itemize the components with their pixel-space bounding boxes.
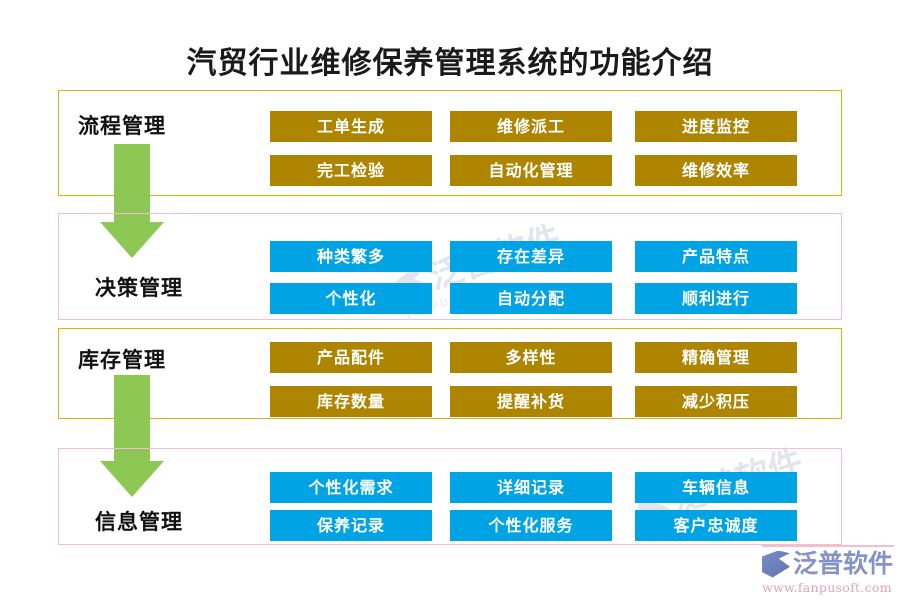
chip-process-r0c2[interactable]: 进度监控	[635, 111, 797, 142]
logo-name: 泛普软件	[793, 550, 893, 578]
section-label-process: 流程管理	[78, 110, 166, 140]
slide-canvas: 汽贸行业维修保养管理系统的功能介绍 泛普软件 FANPUSOFT 泛普软件 FA…	[0, 0, 900, 600]
section-label-information: 信息管理	[95, 506, 183, 536]
chip-inventory-r0c2[interactable]: 精确管理	[635, 342, 797, 373]
chip-process-r0c1[interactable]: 维修派工	[450, 111, 612, 142]
chip-process-r0c0[interactable]: 工单生成	[270, 111, 432, 142]
chip-inventory-r0c0[interactable]: 产品配件	[270, 342, 432, 373]
logo-row: 泛普软件	[762, 549, 894, 579]
section-label-inventory: 库存管理	[78, 344, 166, 374]
chip-process-r1c1[interactable]: 自动化管理	[450, 155, 612, 186]
chip-information-r1c0[interactable]: 保养记录	[270, 510, 432, 541]
chip-inventory-r1c0[interactable]: 库存数量	[270, 386, 432, 417]
chip-inventory-r0c1[interactable]: 多样性	[450, 342, 612, 373]
chip-inventory-r1c1[interactable]: 提醒补货	[450, 386, 612, 417]
chip-information-r0c1[interactable]: 详细记录	[450, 472, 612, 503]
chip-decision-r1c2[interactable]: 顺利进行	[635, 283, 797, 314]
brand-logo[interactable]: 泛普软件 www.fanpusoft.com	[762, 549, 894, 595]
fanpu-logo-icon	[762, 551, 790, 578]
arrow-shaft-process-to-decision	[114, 144, 150, 224]
chip-information-r1c1[interactable]: 个性化服务	[450, 510, 612, 541]
chip-decision-r1c1[interactable]: 自动分配	[450, 283, 612, 314]
chip-decision-r0c2[interactable]: 产品特点	[635, 241, 797, 272]
chip-inventory-r1c2[interactable]: 减少积压	[635, 386, 797, 417]
chip-information-r0c2[interactable]: 车辆信息	[635, 472, 797, 503]
chip-process-r1c2[interactable]: 维修效率	[635, 155, 797, 186]
chip-information-r0c0[interactable]: 个性化需求	[270, 472, 432, 503]
section-label-decision: 决策管理	[95, 272, 183, 302]
chip-decision-r0c0[interactable]: 种类繁多	[270, 241, 432, 272]
page-title: 汽贸行业维修保养管理系统的功能介绍	[0, 38, 900, 82]
logo-divider	[762, 545, 894, 547]
chip-decision-r0c1[interactable]: 存在差异	[450, 241, 612, 272]
logo-url: www.fanpusoft.com	[762, 580, 892, 595]
chip-information-r1c2[interactable]: 客户忠诚度	[635, 510, 797, 541]
chip-decision-r1c0[interactable]: 个性化	[270, 283, 432, 314]
chip-process-r1c0[interactable]: 完工检验	[270, 155, 432, 186]
